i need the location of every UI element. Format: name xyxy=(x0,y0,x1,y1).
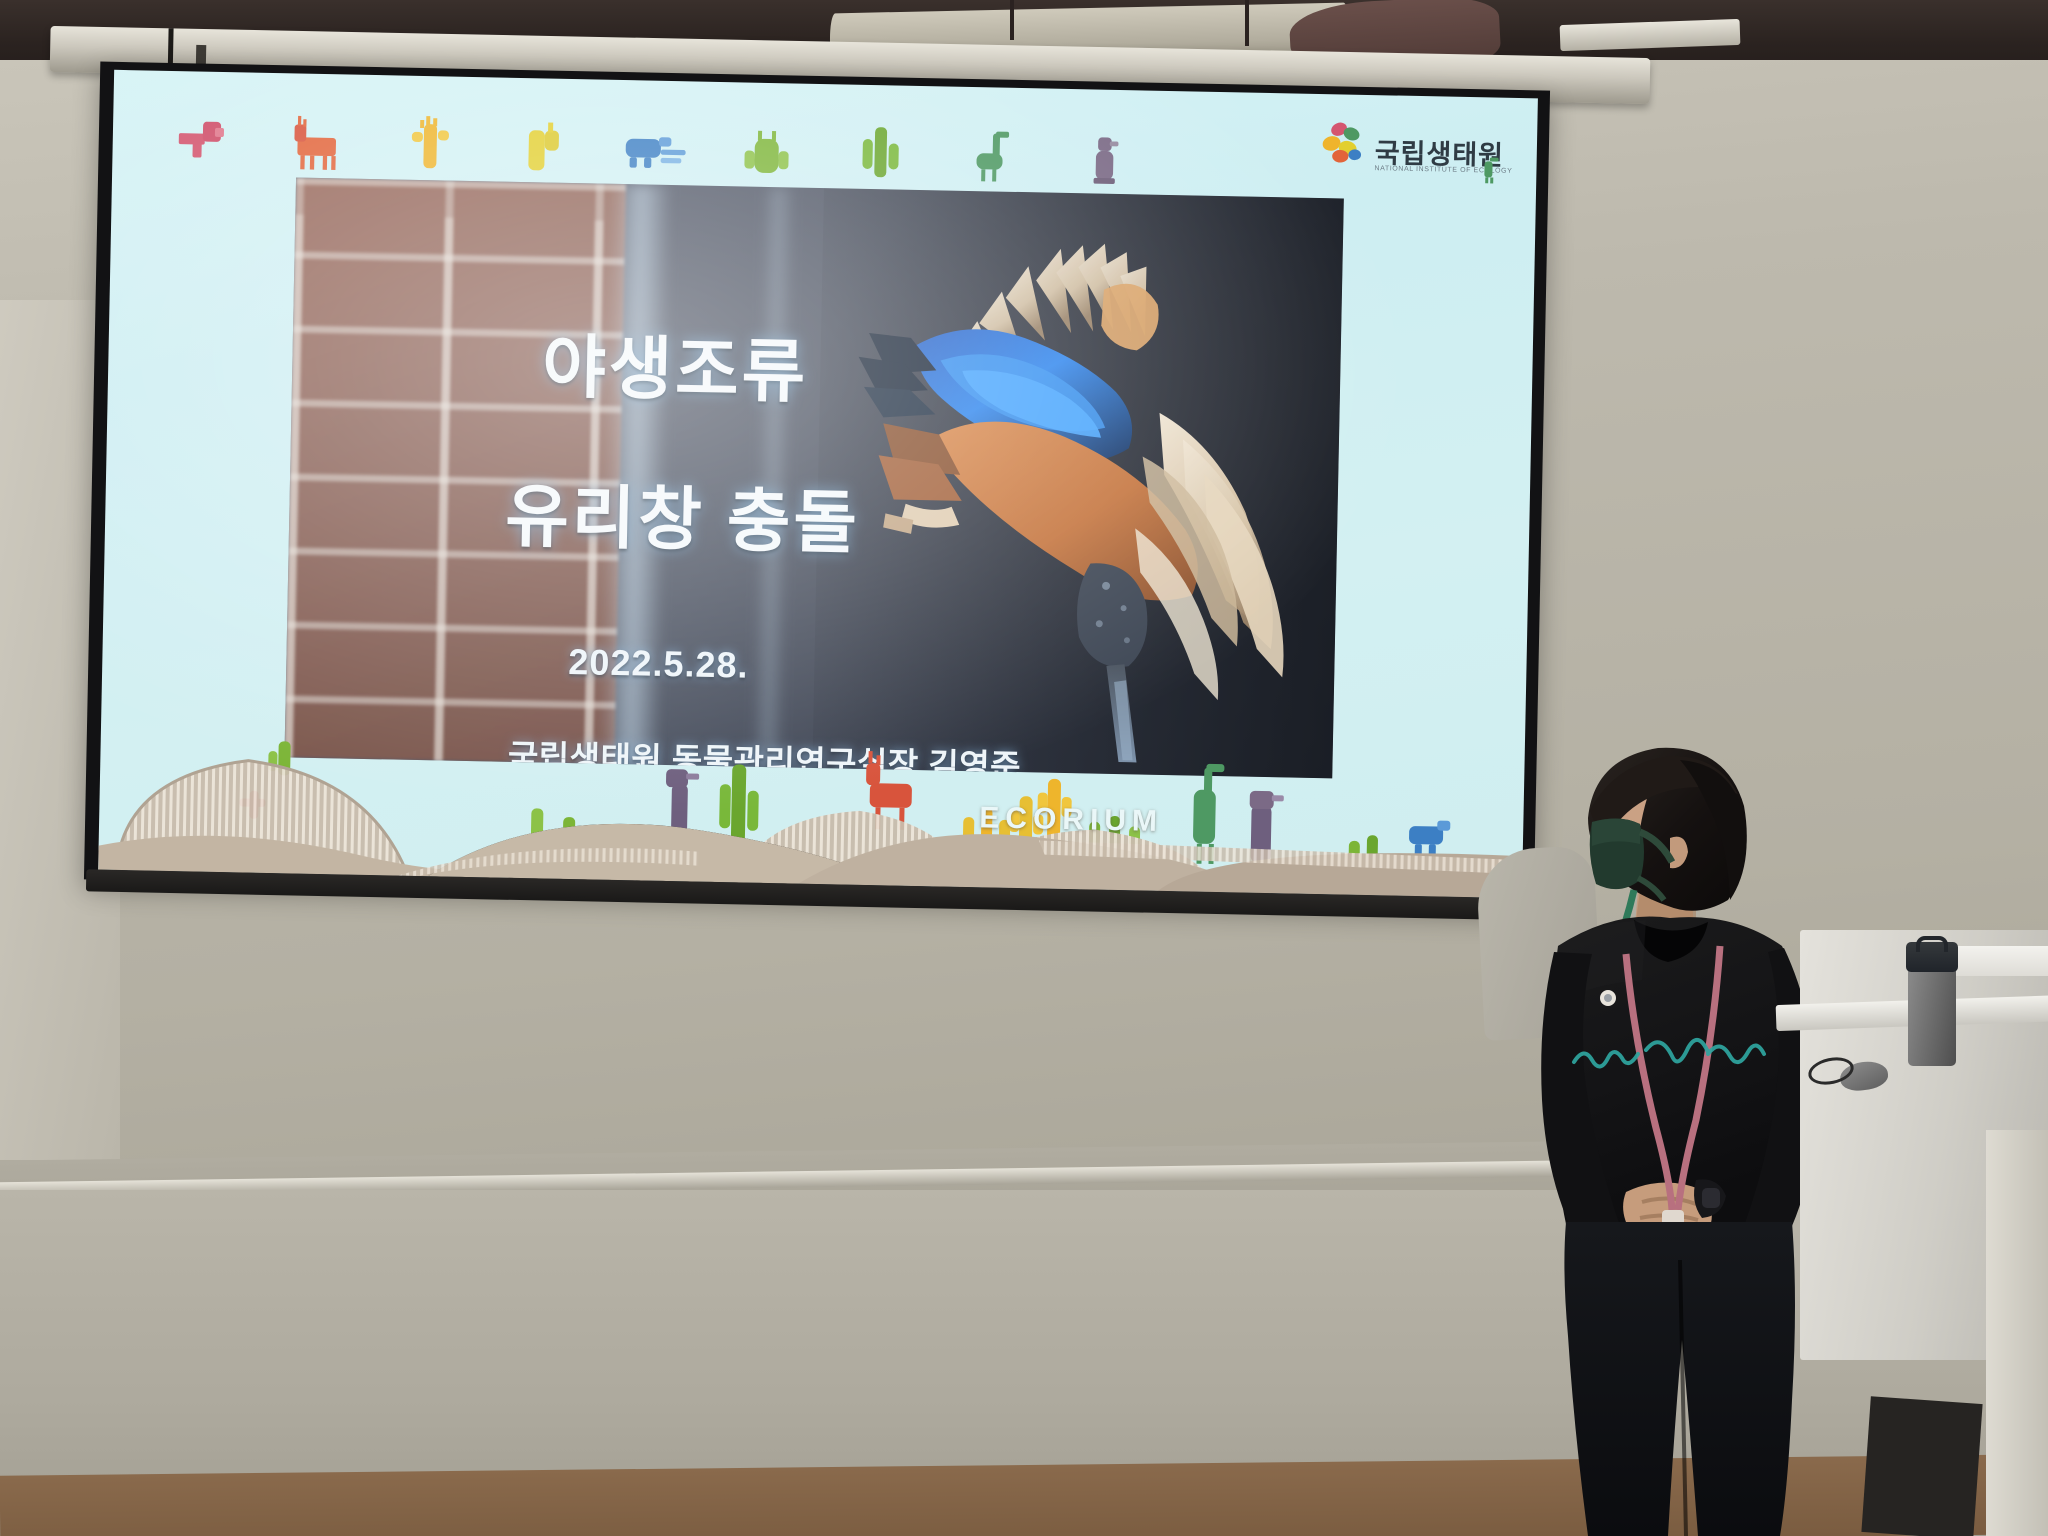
tumbler-handle-icon xyxy=(1916,936,1948,952)
green-ostrich-icon xyxy=(944,109,1058,193)
lecture-room: 국립생태원 NATIONAL INSTITUTE OF ECOLOGY xyxy=(0,0,2048,1536)
yellow-cactus-icon xyxy=(384,97,498,181)
institute-logo: 국립생태원 NATIONAL INSTITUTE OF ECOLOGY xyxy=(1312,116,1504,208)
orange-deer-icon xyxy=(272,95,386,179)
blue-fish-icon xyxy=(608,102,722,186)
ecorium-wordmark: ECORIUM xyxy=(979,801,1163,839)
pink-bird-icon xyxy=(160,93,274,177)
slide-footer-landscape: ECORIUM xyxy=(98,650,1526,899)
slide-title-line1: 야생조류 xyxy=(542,332,1023,411)
green-beetle-icon xyxy=(720,104,834,188)
logo-bird-icon xyxy=(1476,153,1501,183)
ceiling-hanger-rod xyxy=(1010,0,1014,40)
logo-mark-icon xyxy=(1318,118,1373,171)
green-cactus-icon xyxy=(832,106,946,190)
presentation-slide[interactable]: 국립생태원 NATIONAL INSTITUTE OF ECOLOGY xyxy=(98,70,1538,898)
projector-screen[interactable]: 국립생태원 NATIONAL INSTITUTE OF ECOLOGY xyxy=(84,62,1550,909)
lectern-label-card xyxy=(1952,946,2048,976)
right-wall-pillar xyxy=(1986,1130,2048,1536)
slide-title-line2: 유리창 충돌 xyxy=(505,482,1066,562)
yellow-bird-icon xyxy=(496,100,610,184)
purple-penguin-icon xyxy=(1056,111,1170,195)
ceiling-hanger-rod xyxy=(1245,0,1249,46)
leaning-black-board xyxy=(1861,1396,1982,1536)
